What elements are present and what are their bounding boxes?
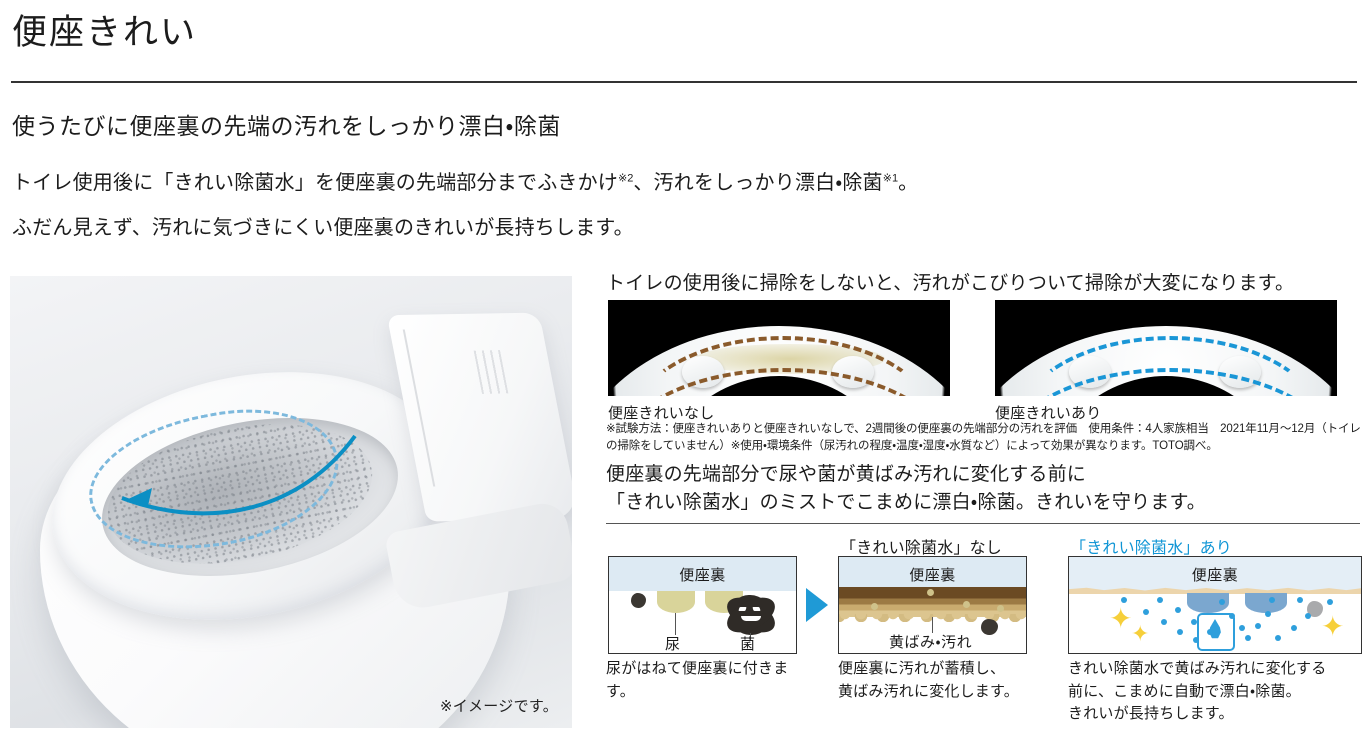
diagram-panel-urine: 便座裏 尿 菌 xyxy=(608,556,797,654)
grime-speck-3 xyxy=(963,601,970,608)
page-title: 便座きれい xyxy=(12,14,197,53)
product-photo: ※イメージです。 xyxy=(10,276,572,728)
lead-text-b: 、汚れをしっかり漂白・除菌 xyxy=(633,172,882,194)
urine-droplet-icon-1 xyxy=(657,591,695,613)
grime-speck-2 xyxy=(871,603,878,610)
mechanism-heading-line2: 「きれい除菌水」のミストでこまめに漂白・除菌。きれいを守ります。 xyxy=(606,489,1206,517)
panel3-caption-line1: きれい除菌水で黄ばみ汚れに変化する xyxy=(1068,658,1368,681)
mechanism-divider xyxy=(606,523,1360,524)
caption-with: 便座きれいあり xyxy=(995,402,1101,423)
lead-text-c: 。 xyxy=(898,172,918,194)
diagram-panel-sanitized: 便座裏 ✦ ✦ ✦ xyxy=(1068,556,1362,654)
panel3-band-label: 便座裏 xyxy=(1069,557,1361,591)
test-method-footnote: ※試験方法：便座きれいありと便座きれいなしで、2週間後の便座裏の先端部分の汚れを… xyxy=(606,421,1362,456)
photo-with-seat-clean xyxy=(995,300,1337,396)
caption-without: 便座きれいなし xyxy=(608,402,714,423)
title-divider xyxy=(11,81,1357,83)
panel2-band-label: 便座裏 xyxy=(839,557,1026,591)
sparkle-icon-2: ✦ xyxy=(1131,623,1149,645)
photo-without-seat-clean xyxy=(608,300,950,396)
sparkle-icon-3: ✦ xyxy=(1321,613,1344,641)
panel2-caption-line2: 黄ばみ汚れに変化します。 xyxy=(838,681,1038,704)
germ-label: 菌 xyxy=(740,633,756,654)
panel2-caption: 便座裏に汚れが蓄積し、 黄ばみ汚れに変化します。 xyxy=(838,658,1038,703)
panel2-caption-line1: 便座裏に汚れが蓄積し、 xyxy=(838,658,1038,681)
lead-paragraph-line2: ふだん見えず、汚れに気づきにくい便座裏のきれいが長持ちします。 xyxy=(12,211,634,240)
germ-small-icon xyxy=(981,619,998,635)
germ-small-icon xyxy=(631,593,646,608)
panel3-caption-line2: 前に、こまめに自動で漂白・除菌。 xyxy=(1068,681,1368,704)
panel3-caption: きれい除菌水で黄ばみ汚れに変化する 前に、こまめに自動で漂白・除菌。 きれいが長… xyxy=(1068,658,1368,726)
diagram-panel-grime: 便座裏 黄ばみ・汚れ xyxy=(838,556,1027,654)
footnote-marker-1: ※1 xyxy=(883,172,898,184)
water-flow-arrow-icon xyxy=(70,406,370,556)
water-blob-2 xyxy=(1245,593,1287,613)
urine-leader-line xyxy=(675,613,676,635)
panel1-band-label: 便座裏 xyxy=(609,557,796,591)
lead-text-a: トイレ使用後に「きれい除菌水」を便座裏の先端部分までふきかけ xyxy=(12,172,618,194)
panel3-title: 「きれい除菌水」あり xyxy=(1070,534,1232,558)
section-subheading: 使うたびに便座裏の先端の汚れをしっかり漂白・除菌 xyxy=(12,107,561,141)
lead-paragraph-line1: トイレ使用後に「きれい除菌水」を便座裏の先端部分までふきかけ※2、汚れをしっかり… xyxy=(12,166,918,195)
urine-label: 尿 xyxy=(665,633,681,654)
grime-speck-4 xyxy=(997,605,1004,612)
mechanism-heading-line1: 便座裏の先端部分で尿や菌が黄ばみ汚れに変化する前に xyxy=(606,461,1206,489)
sparkle-icon-1: ✦ xyxy=(1109,605,1132,633)
grime-label: 黄ばみ・汚れ xyxy=(889,631,972,652)
germ-face-icon xyxy=(739,607,763,623)
panel2-title: 「きれい除菌水」なし xyxy=(840,534,1002,558)
image-disclaimer: ※イメージです。 xyxy=(440,695,558,716)
kirei-water-drop-icon xyxy=(1197,613,1235,651)
footnote-marker-2: ※2 xyxy=(618,172,633,184)
grime-speck-1 xyxy=(927,589,934,596)
panel1-caption: 尿がはねて便座裏に付きます。 xyxy=(606,658,806,703)
comparison-heading: トイレの使用後に掃除をしないと、汚れがこびりついて掃除が大変になります。 xyxy=(606,268,1294,295)
flow-arrow-icon xyxy=(806,588,828,622)
panel3-caption-line3: きれいが長持ちします。 xyxy=(1068,703,1368,726)
mechanism-heading: 便座裏の先端部分で尿や菌が黄ばみ汚れに変化する前に 「きれい除菌水」のミストでこ… xyxy=(606,461,1206,516)
